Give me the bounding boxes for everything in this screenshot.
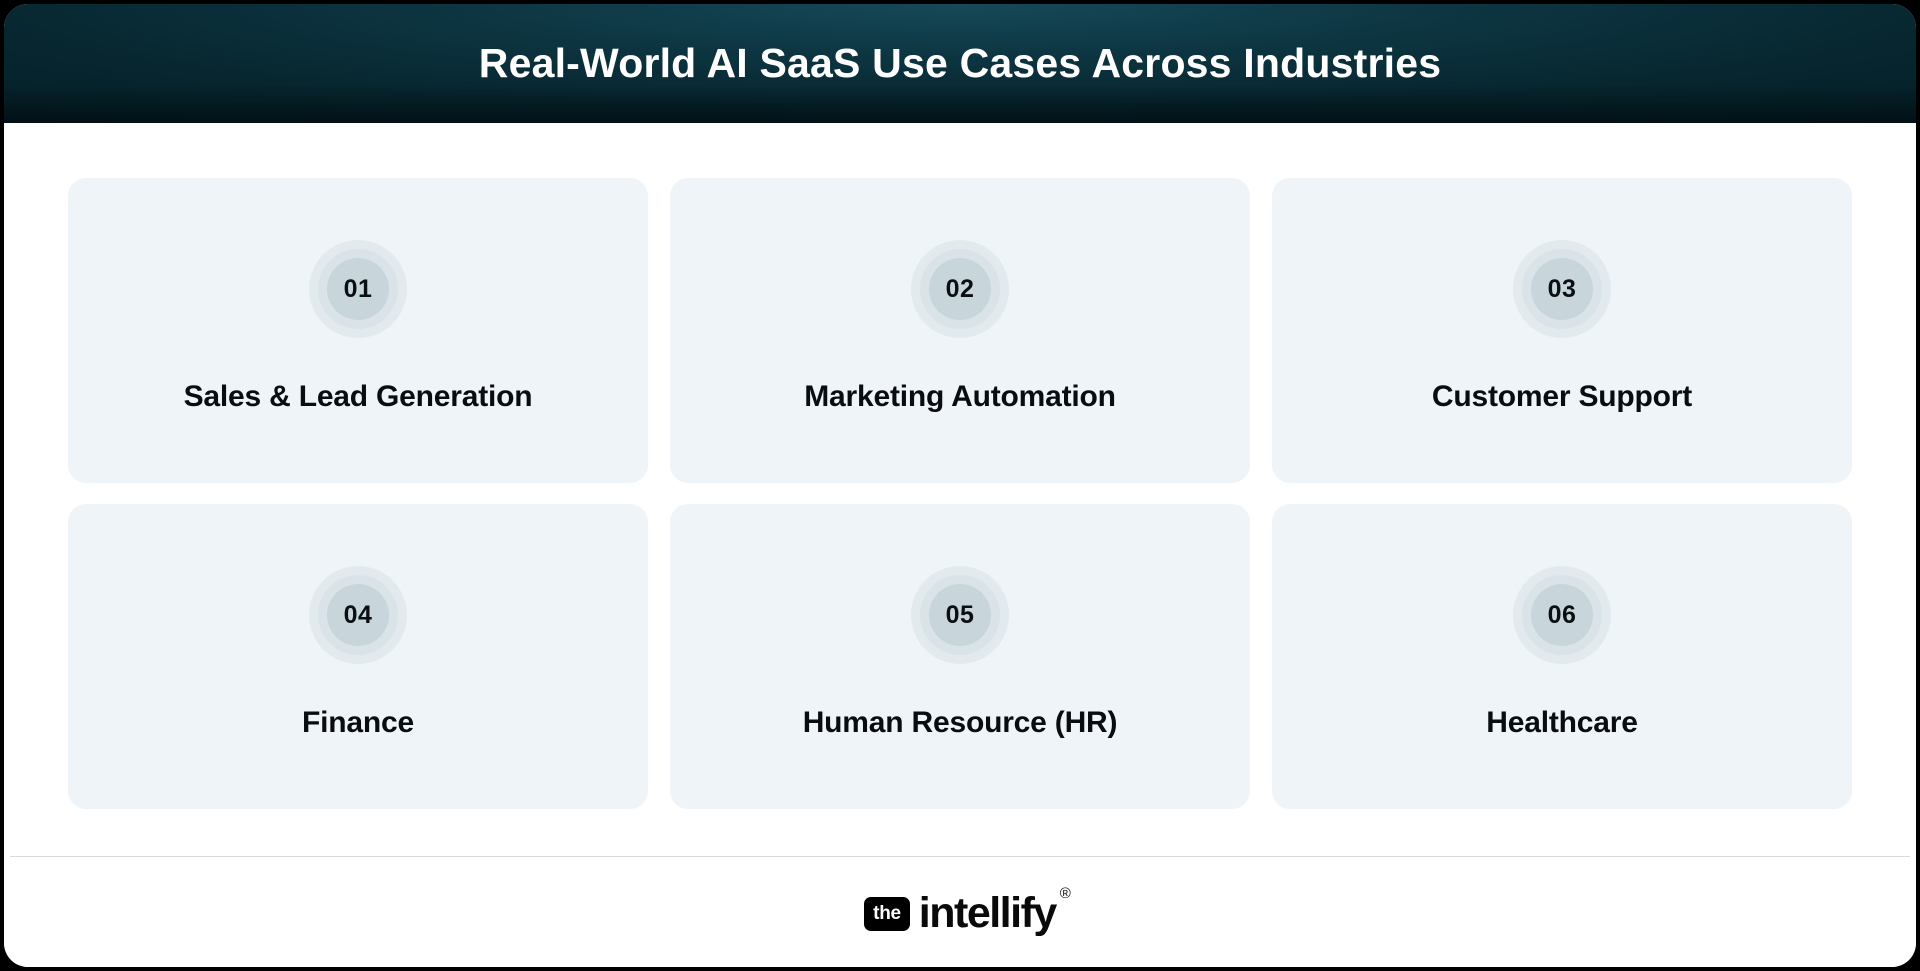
number-badge-01: 01 xyxy=(309,240,407,338)
logo-wordmark-wrap: intellify ® xyxy=(919,892,1056,935)
footer: the intellify ® xyxy=(4,856,1916,967)
use-case-card-01[interactable]: 01 Sales & Lead Generation xyxy=(68,178,648,483)
header-banner: Real-World AI SaaS Use Cases Across Indu… xyxy=(4,4,1916,123)
content-area: 01 Sales & Lead Generation 02 Marketing … xyxy=(4,123,1916,856)
infographic-canvas: Real-World AI SaaS Use Cases Across Indu… xyxy=(4,4,1916,967)
use-case-card-03[interactable]: 03 Customer Support xyxy=(1272,178,1852,483)
footer-divider xyxy=(10,856,1910,857)
number-badge-05: 05 xyxy=(911,566,1009,664)
use-case-card-05[interactable]: 05 Human Resource (HR) xyxy=(670,504,1250,809)
badge-number-label: 04 xyxy=(344,601,373,630)
brand-logo[interactable]: the intellify ® xyxy=(864,892,1056,935)
use-case-card-06[interactable]: 06 Healthcare xyxy=(1272,504,1852,809)
infographic-frame: Real-World AI SaaS Use Cases Across Indu… xyxy=(0,0,1920,971)
use-case-title: Human Resource (HR) xyxy=(787,706,1134,741)
use-case-card-04[interactable]: 04 Finance xyxy=(68,504,648,809)
badge-number-label: 05 xyxy=(946,601,975,630)
number-badge-06: 06 xyxy=(1513,566,1611,664)
badge-number-label: 06 xyxy=(1548,601,1577,630)
use-case-title: Healthcare xyxy=(1470,706,1653,741)
badge-number-label: 01 xyxy=(344,275,373,304)
use-case-card-02[interactable]: 02 Marketing Automation xyxy=(670,178,1250,483)
number-badge-03: 03 xyxy=(1513,240,1611,338)
badge-number-label: 02 xyxy=(946,275,975,304)
use-case-title: Customer Support xyxy=(1416,380,1708,415)
logo-the-badge: the xyxy=(864,897,910,931)
number-badge-02: 02 xyxy=(911,240,1009,338)
number-badge-04: 04 xyxy=(309,566,407,664)
use-case-title: Marketing Automation xyxy=(788,380,1132,415)
badge-number-label: 03 xyxy=(1548,275,1577,304)
use-case-title: Finance xyxy=(286,706,430,741)
logo-wordmark: intellify xyxy=(919,889,1056,937)
use-case-title: Sales & Lead Generation xyxy=(168,380,549,415)
use-case-grid: 01 Sales & Lead Generation 02 Marketing … xyxy=(68,178,1852,809)
registered-trademark-icon: ® xyxy=(1060,886,1071,901)
page-title: Real-World AI SaaS Use Cases Across Indu… xyxy=(479,41,1441,86)
